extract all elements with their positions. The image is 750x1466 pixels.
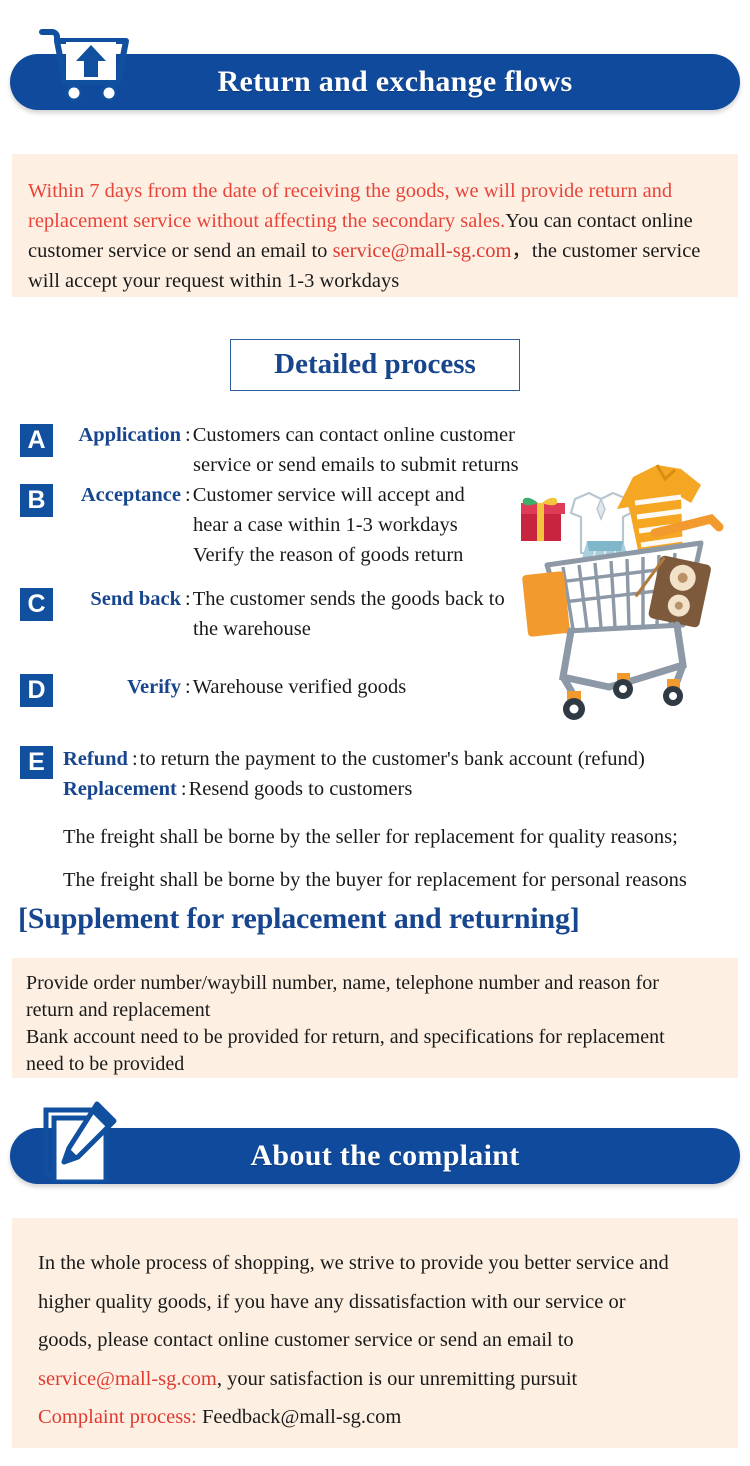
complaint-service-email[interactable]: service@mall-sg.com: [38, 1368, 217, 1390]
replacement-label: Replacement: [63, 774, 177, 804]
step-badge-b: B: [20, 484, 53, 517]
supplement-line-4: need to be provided: [26, 1051, 724, 1078]
supplement-heading: [Supplement for replacement and returnin…: [18, 902, 580, 936]
step-d-text-1: Warehouse verified goods: [193, 676, 407, 698]
refund-label: Refund: [63, 744, 128, 774]
step-b-colon: :: [181, 484, 193, 506]
step-badge-e: E: [20, 746, 53, 779]
complaint-process-label: Complaint process:: [38, 1406, 197, 1428]
step-a-line-2: service or send emails to submit returns: [63, 450, 543, 480]
complaint-line-3: goods, please contact online customer se…: [38, 1321, 718, 1360]
step-b-line-3: Verify the reason of goods return: [63, 540, 543, 570]
service-email-link[interactable]: service@mall-sg.com: [333, 240, 512, 262]
replacement-colon: :: [177, 778, 189, 800]
supplement-line-3: Bank account need to be provided for ret…: [26, 1024, 724, 1051]
step-b-line-1: Acceptance:Customer service will accept …: [63, 480, 543, 510]
step-b-text-1: Customer service will accept and: [193, 484, 465, 506]
step-b-label: Acceptance: [63, 480, 181, 510]
shopping-cart-up-arrow-icon: [38, 24, 136, 102]
step-badge-d: D: [20, 674, 53, 707]
step-c-line-1: Send back:The customer sends the goods b…: [63, 584, 543, 614]
step-c-colon: :: [181, 588, 193, 610]
step-c-text-1: The customer sends the goods back to: [193, 588, 505, 610]
step-a-text-1: Customers can contact online customer: [193, 424, 515, 446]
step-d-label: Verify: [63, 672, 181, 702]
complaint-feedback-email[interactable]: Feedback@mall-sg.com: [202, 1406, 401, 1428]
intro-paragraph: Within 7 days from the date of receiving…: [28, 176, 714, 296]
step-e-refund-line: Refund:to return the payment to the cust…: [63, 744, 750, 774]
complaint-line-4-rest: , your satisfaction is our unremitting p…: [217, 1368, 577, 1390]
step-a-colon: :: [181, 424, 193, 446]
complaint-line-2: higher quality goods, if you have any di…: [38, 1283, 718, 1322]
replacement-text: Resend goods to customers: [189, 778, 413, 800]
step-c-label: Send back: [63, 584, 181, 614]
step-d-colon: :: [181, 676, 193, 698]
step-a-line-1: Application:Customers can contact online…: [63, 420, 543, 450]
supplement-line-2: return and replacement: [26, 997, 724, 1024]
intro-policy-box: Within 7 days from the date of receiving…: [12, 154, 738, 297]
freight-note-1: The freight shall be borne by the seller…: [63, 822, 750, 852]
refund-text: to return the payment to the customer's …: [140, 748, 645, 770]
complaint-line-4: service@mall-sg.com, your satisfaction i…: [38, 1360, 718, 1399]
step-a-label: Application: [63, 420, 181, 450]
freight-note-2: The freight shall be borne by the buyer …: [63, 865, 750, 895]
refund-colon: :: [128, 748, 140, 770]
complaint-details-box: In the whole process of shopping, we str…: [12, 1218, 738, 1448]
step-badge-c: C: [20, 588, 53, 621]
step-e-replacement-line: Replacement:Resend goods to customers: [63, 774, 750, 804]
shopping-cart-with-goods-illustration: [505, 455, 745, 725]
complaint-line-1: In the whole process of shopping, we str…: [38, 1244, 718, 1283]
detailed-process-heading: Detailed process: [230, 339, 520, 391]
step-badge-a: A: [20, 424, 53, 457]
process-step-e: E Refund:to return the payment to the cu…: [0, 726, 750, 804]
notepad-pencil-icon: [40, 1098, 122, 1182]
supplement-line-1: Provide order number/waybill number, nam…: [26, 970, 724, 997]
step-c-line-2: the warehouse: [63, 614, 543, 644]
step-b-line-2: hear a case within 1-3 workdays: [63, 510, 543, 540]
supplement-details-box: Provide order number/waybill number, nam…: [12, 958, 738, 1078]
step-d-line-1: Verify:Warehouse verified goods: [63, 672, 543, 702]
gift-box-icon: [521, 498, 565, 541]
complaint-process-line: Complaint process: Feedback@mall-sg.com: [38, 1398, 718, 1437]
